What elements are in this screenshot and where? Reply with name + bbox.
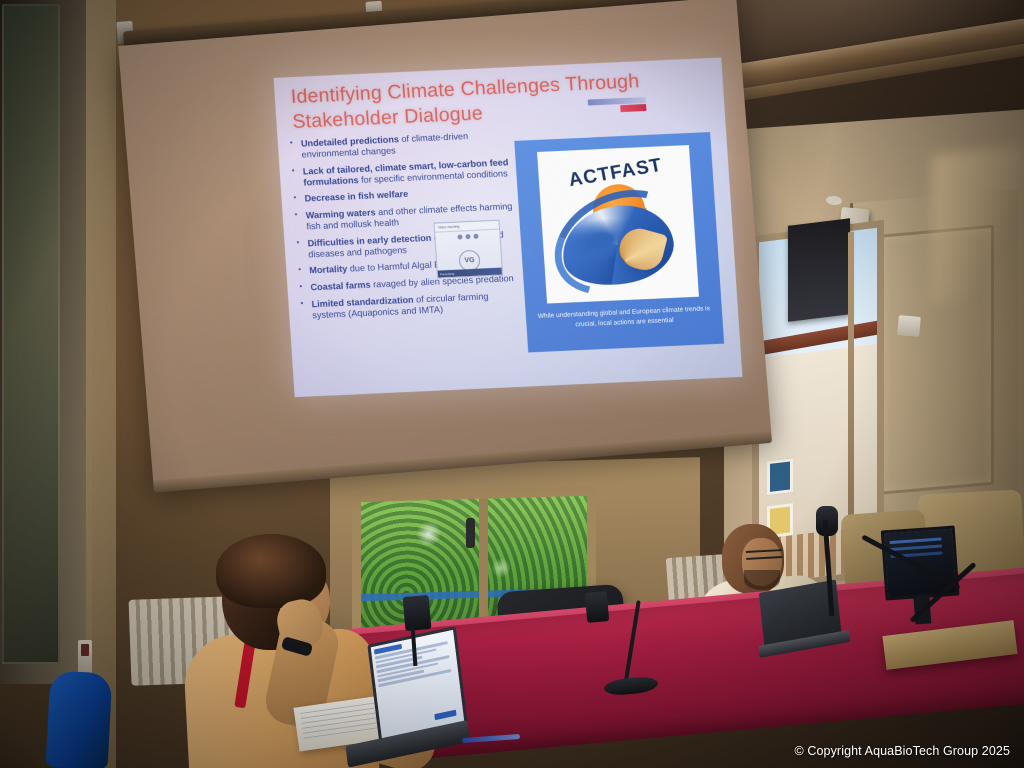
projection-screen-assembly: Identifying Climate Challenges Through S…: [118, 0, 774, 512]
attendee-laptop[interactable]: [323, 631, 467, 766]
bullet-bold: Decrease in fish welfare: [304, 189, 408, 204]
app-button[interactable]: [434, 710, 456, 721]
list-item: Lack of tailored, climate smart, low-car…: [291, 157, 510, 189]
conference-room-photo: Identifying Climate Challenges Through S…: [0, 0, 1024, 768]
window-mullion: [479, 499, 488, 633]
list-item: Undetailed predictions of climate-driven…: [290, 129, 509, 161]
window-handle[interactable]: [466, 518, 475, 548]
wall-socket: [897, 315, 921, 337]
glasses-icon: [746, 549, 782, 560]
more-icon[interactable]: [473, 234, 478, 239]
mic-icon[interactable]: [457, 234, 462, 239]
attendee-hair: [216, 534, 326, 608]
slide-brand-badge: [620, 104, 646, 112]
copyright-watermark: © Copyright AquaBioTech Group 2025: [794, 744, 1010, 758]
left-door-frame: [0, 0, 92, 684]
blue-chair: [46, 670, 113, 768]
slide-image-panel: ACTFAST While understanding global and E…: [514, 132, 724, 352]
video-call-controls[interactable]: [435, 230, 500, 244]
slide-title: Identifying Climate Challenges Through S…: [290, 66, 723, 135]
phone-holder-left: [403, 595, 432, 631]
video-call-panel[interactable]: Video meeting VG Presenting: [433, 220, 503, 279]
left-door-glass: [2, 4, 60, 664]
window-blind[interactable]: [788, 218, 850, 322]
list-item: Limited standardization of circular farm…: [300, 289, 519, 321]
building-window-upper: [767, 458, 793, 495]
slide-caption: While understanding global and European …: [532, 304, 717, 331]
screen-canvas: Identifying Climate Challenges Through S…: [118, 0, 771, 487]
video-call-footer: Presenting: [438, 268, 502, 278]
bullet-bold: Coastal farms: [310, 280, 371, 293]
camera-icon[interactable]: [465, 234, 470, 239]
bullet-bold: Mortality: [309, 264, 348, 276]
phone-holder-center: [585, 591, 610, 623]
presenter-laptop[interactable]: [753, 581, 852, 660]
actfast-logo: ACTFAST: [537, 145, 699, 304]
projected-slide: Identifying Climate Challenges Through S…: [274, 58, 743, 398]
presenter-beard: [744, 570, 780, 590]
door-light-glow: [932, 145, 1024, 305]
